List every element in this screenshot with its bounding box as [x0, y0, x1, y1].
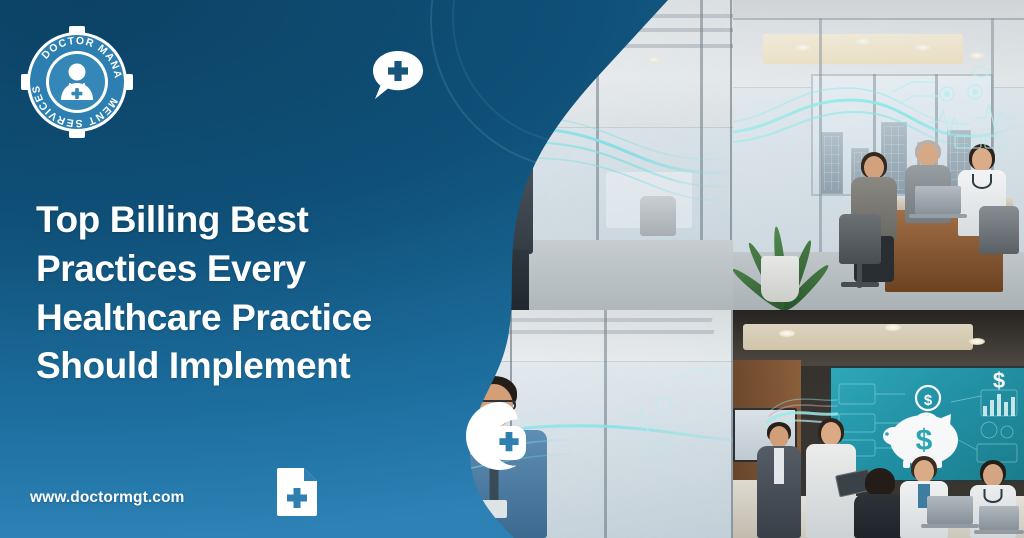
photo-glass-meeting-room — [733, 0, 1024, 310]
svg-text:$: $ — [916, 424, 933, 457]
document-medical-icon — [275, 466, 319, 516]
photo-billing-presentation: $ $ $ — [733, 310, 1024, 538]
svg-text:$: $ — [993, 368, 1005, 393]
page-title: Top Billing Best Practices Every Healthc… — [36, 196, 466, 391]
blog-banner: $ $ $ — [0, 0, 1024, 538]
headline-line-2: Practices Every — [36, 248, 306, 289]
headline-line-1: Top Billing Best — [36, 199, 308, 240]
chat-bubble-medical-icon — [369, 47, 427, 105]
headline-line-4: Should Implement — [36, 345, 350, 386]
crescent-medical-cross-icon — [462, 398, 538, 474]
doctor-management-services-logo[interactable]: DOCTOR MANAGE MENT SERVICES — [21, 26, 133, 138]
svg-text:$: $ — [924, 392, 933, 409]
headline-line-3: Healthcare Practice — [36, 297, 372, 338]
website-url[interactable]: www.doctormgt.com — [30, 489, 184, 507]
